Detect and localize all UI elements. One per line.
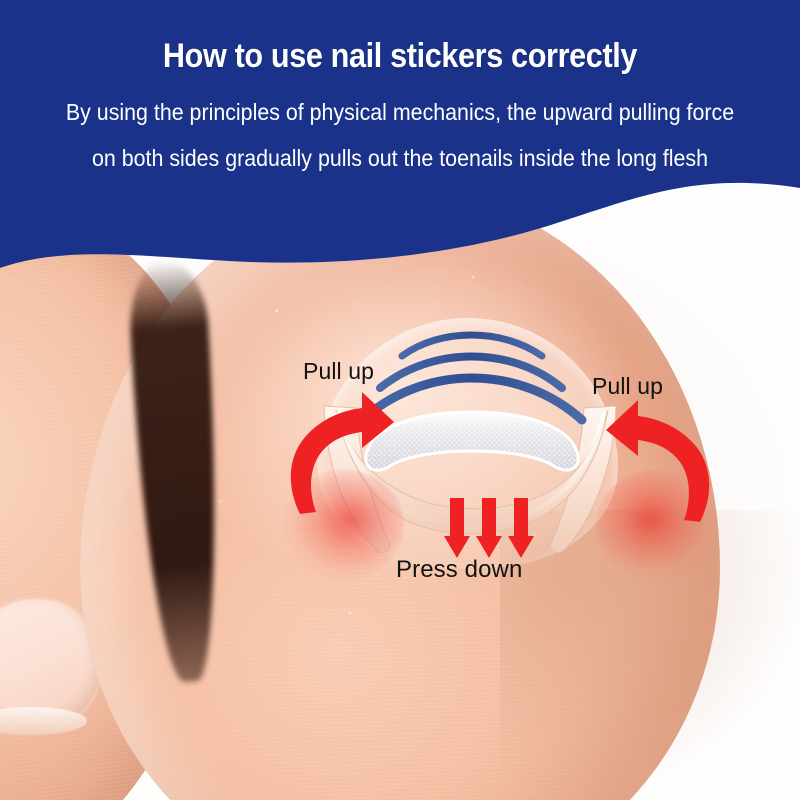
- pull-up-label-left: Pull up: [303, 358, 374, 385]
- press-down-arrows: [444, 498, 534, 560]
- down-arrow-3: [508, 498, 534, 558]
- down-arrow-1: [444, 498, 470, 558]
- pull-up-label-right: Pull up: [592, 373, 663, 400]
- arc-2: [380, 357, 562, 389]
- infographic-page: Pull up Pull up Press down How to use na…: [0, 0, 800, 800]
- pull-up-arrow-left: [284, 382, 400, 518]
- press-down-label: Press down: [396, 556, 522, 584]
- pull-up-arrow-right: [600, 390, 716, 526]
- down-arrow-2: [476, 498, 502, 558]
- annotation-layer: Pull up Pull up Press down: [0, 0, 800, 800]
